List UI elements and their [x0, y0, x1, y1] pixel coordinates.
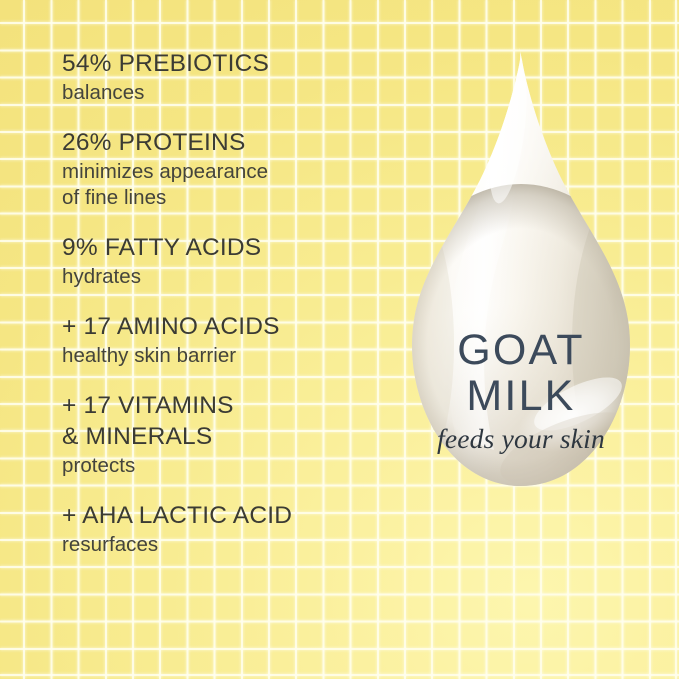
benefit-title: + 17 VITAMINS & MINERALS	[62, 390, 392, 452]
benefit-description: healthy skin barrier	[62, 343, 392, 369]
benefit-description: balances	[62, 80, 392, 106]
benefit-item: + 17 AMINO ACIDS healthy skin barrier	[62, 311, 392, 369]
benefit-title: + 17 AMINO ACIDS	[62, 311, 392, 342]
benefit-title: + AHA LACTIC ACID	[62, 500, 392, 531]
benefit-title: 54% PREBIOTICS	[62, 48, 392, 79]
benefit-description: hydrates	[62, 264, 392, 290]
benefit-title: 26% PROTEINS	[62, 127, 392, 158]
benefit-item: + AHA LACTIC ACID resurfaces	[62, 500, 392, 558]
milk-droplet-graphic: GOAT MILK feeds your skin	[390, 44, 652, 556]
milk-droplet-icon	[390, 44, 652, 556]
benefit-item: 9% FATTY ACIDS hydrates	[62, 232, 392, 290]
benefits-list: 54% PREBIOTICS balances 26% PROTEINS min…	[62, 48, 392, 558]
benefit-item: 54% PREBIOTICS balances	[62, 48, 392, 106]
benefit-title: 9% FATTY ACIDS	[62, 232, 392, 263]
product-benefits-graphic: 54% PREBIOTICS balances 26% PROTEINS min…	[0, 0, 679, 679]
benefit-description: minimizes appearance of fine lines	[62, 159, 392, 211]
benefit-item: 26% PROTEINS minimizes appearance of fin…	[62, 127, 392, 211]
benefit-item: + 17 VITAMINS & MINERALS protects	[62, 390, 392, 479]
benefit-description: protects	[62, 453, 392, 479]
benefit-description: resurfaces	[62, 532, 392, 558]
